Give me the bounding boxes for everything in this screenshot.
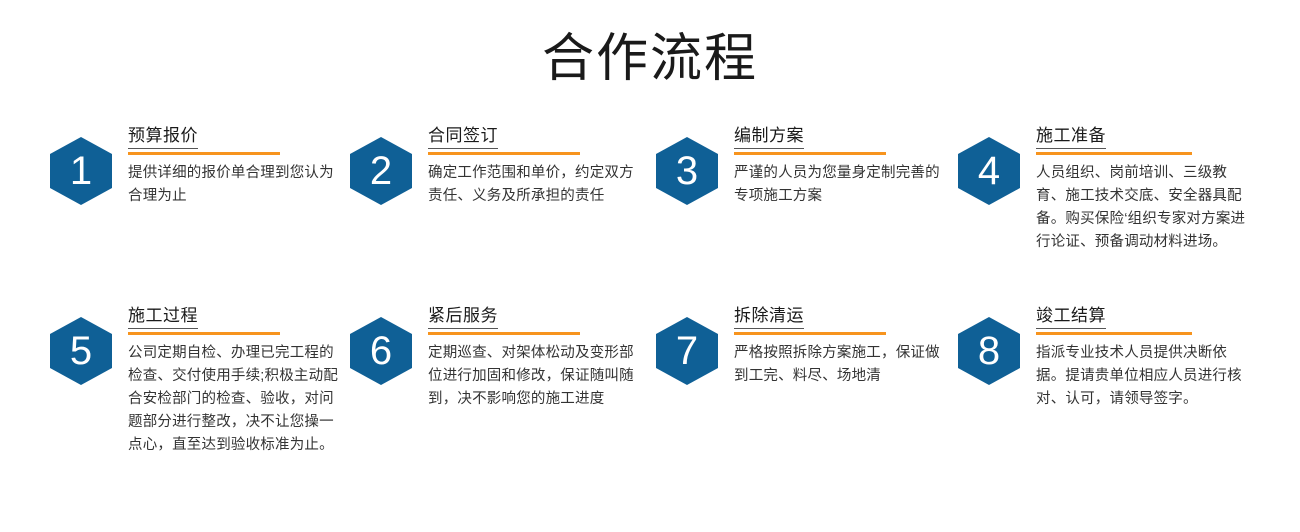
step-item-7: 7 拆除清运 严格按照拆除方案施工，保证做到工完、料尽、场地清 — [656, 305, 948, 388]
step-content-4: 施工准备 人员组织、岗前培训、三级教育、施工技术交底、安全器具配备。购买保险‘组… — [1020, 125, 1258, 254]
step-badge-1: 1 — [50, 137, 112, 205]
step-item-8: 8 竣工结算 指派专业技术人员提供决断依据。提请贵单位相应人员进行核对、认可，请… — [958, 305, 1258, 411]
step-badge-6: 6 — [350, 317, 412, 385]
page-title: 合作流程 — [0, 28, 1300, 90]
title-underline-rule — [128, 332, 280, 335]
hexagon-icon: 2 — [350, 137, 412, 205]
step-item-2: 2 合同签订 确定工作范围和单价，约定双方责任、义务及所承担的责任 — [350, 125, 640, 208]
step-description: 定期巡查、对架体松动及变形部位进行加固和修改，保证随叫随到，决不影响您的施工进度 — [428, 342, 646, 411]
step-number: 4 — [978, 151, 1000, 191]
title-underline-rule — [128, 152, 280, 155]
step-number: 7 — [676, 331, 698, 371]
step-content-3: 编制方案 严谨的人员为您量身定制完善的专项施工方案 — [718, 125, 952, 208]
step-badge-5: 5 — [50, 317, 112, 385]
step-number: 5 — [70, 331, 92, 371]
step-title: 预算报价 — [128, 125, 198, 149]
step-description: 指派专业技术人员提供决断依据。提请贵单位相应人员进行核对、认可，请领导签字。 — [1036, 342, 1246, 411]
step-item-4: 4 施工准备 人员组织、岗前培训、三级教育、施工技术交底、安全器具配备。购买保险… — [958, 125, 1258, 254]
step-badge-7: 7 — [656, 317, 718, 385]
title-underline-rule — [734, 332, 886, 335]
step-number: 2 — [370, 151, 392, 191]
step-description: 公司定期自检、办理已完工程的检查、交付使用手续;积极主动配合安检部门的检查、验收… — [128, 342, 344, 457]
title-underline-rule — [1036, 152, 1192, 155]
step-description: 提供详细的报价单合理到您认为合理为止 — [128, 162, 344, 208]
step-title: 合同签订 — [428, 125, 498, 149]
title-underline-rule — [1036, 332, 1192, 335]
title-underline-rule — [734, 152, 886, 155]
step-title: 施工准备 — [1036, 125, 1106, 149]
hexagon-icon: 4 — [958, 137, 1020, 205]
steps-row-bottom: 5 施工过程 公司定期自检、办理已完工程的检查、交付使用手续;积极主动配合安检部… — [0, 305, 1300, 505]
step-description: 严谨的人员为您量身定制完善的专项施工方案 — [734, 162, 952, 208]
step-content-8: 竣工结算 指派专业技术人员提供决断依据。提请贵单位相应人员进行核对、认可，请领导… — [1020, 305, 1258, 411]
hexagon-icon: 1 — [50, 137, 112, 205]
step-item-3: 3 编制方案 严谨的人员为您量身定制完善的专项施工方案 — [656, 125, 948, 208]
step-badge-3: 3 — [656, 137, 718, 205]
step-item-1: 1 预算报价 提供详细的报价单合理到您认为合理为止 — [50, 125, 340, 208]
step-item-6: 6 紧后服务 定期巡查、对架体松动及变形部位进行加固和修改，保证随叫随到，决不影… — [350, 305, 640, 411]
step-content-6: 紧后服务 定期巡查、对架体松动及变形部位进行加固和修改，保证随叫随到，决不影响您… — [412, 305, 646, 411]
hexagon-icon: 6 — [350, 317, 412, 385]
step-number: 6 — [370, 331, 392, 371]
hexagon-icon: 7 — [656, 317, 718, 385]
step-description: 人员组织、岗前培训、三级教育、施工技术交底、安全器具配备。购买保险‘组织专家对方… — [1036, 162, 1246, 254]
step-number: 3 — [676, 151, 698, 191]
title-underline-rule — [428, 332, 580, 335]
step-number: 8 — [978, 331, 1000, 371]
steps-grid: 1 预算报价 提供详细的报价单合理到您认为合理为止 2 合同签订 — [0, 125, 1300, 505]
step-badge-4: 4 — [958, 137, 1020, 205]
step-content-2: 合同签订 确定工作范围和单价，约定双方责任、义务及所承担的责任 — [412, 125, 646, 208]
step-title: 紧后服务 — [428, 305, 498, 329]
cooperation-process-infographic: 合作流程 1 预算报价 提供详细的报价单合理到您认为合理为止 2 — [0, 0, 1300, 532]
step-title: 施工过程 — [128, 305, 198, 329]
step-content-5: 施工过程 公司定期自检、办理已完工程的检查、交付使用手续;积极主动配合安检部门的… — [112, 305, 344, 457]
step-content-7: 拆除清运 严格按照拆除方案施工，保证做到工完、料尽、场地清 — [718, 305, 952, 388]
step-number: 1 — [70, 151, 92, 191]
hexagon-icon: 8 — [958, 317, 1020, 385]
step-description: 严格按照拆除方案施工，保证做到工完、料尽、场地清 — [734, 342, 952, 388]
step-badge-2: 2 — [350, 137, 412, 205]
step-title: 编制方案 — [734, 125, 804, 149]
steps-row-top: 1 预算报价 提供详细的报价单合理到您认为合理为止 2 合同签订 — [0, 125, 1300, 305]
step-content-1: 预算报价 提供详细的报价单合理到您认为合理为止 — [112, 125, 344, 208]
step-title: 竣工结算 — [1036, 305, 1106, 329]
step-badge-8: 8 — [958, 317, 1020, 385]
hexagon-icon: 5 — [50, 317, 112, 385]
step-item-5: 5 施工过程 公司定期自检、办理已完工程的检查、交付使用手续;积极主动配合安检部… — [50, 305, 340, 457]
hexagon-icon: 3 — [656, 137, 718, 205]
title-underline-rule — [428, 152, 580, 155]
step-description: 确定工作范围和单价，约定双方责任、义务及所承担的责任 — [428, 162, 646, 208]
step-title: 拆除清运 — [734, 305, 804, 329]
